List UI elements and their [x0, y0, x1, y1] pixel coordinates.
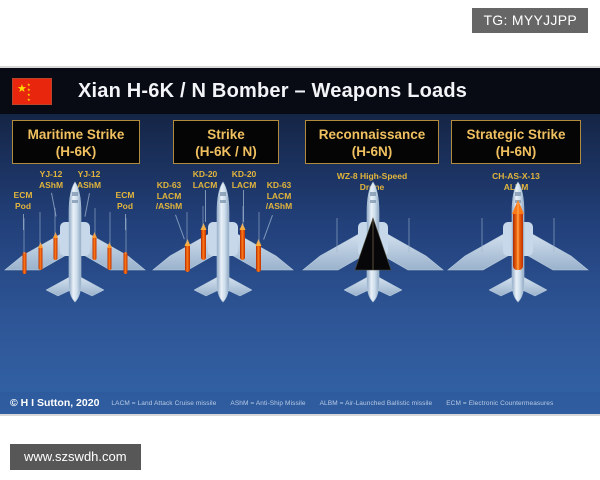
infographic-header: ★ ★★★★ Xian H-6K / N Bomber – Weapons Lo…: [0, 68, 600, 114]
panel-variant-text: (H-6K / N): [174, 143, 278, 160]
aircraft-reconnaissance: [298, 178, 448, 303]
telegram-watermark: TG: MYYJJPP: [472, 8, 588, 33]
footer-legend-bar: © H I Sutton, 2020 LACM = Land Attack Cr…: [0, 392, 600, 414]
aircraft-strike: [148, 178, 298, 303]
panel-title-text: Strike: [207, 127, 245, 142]
panel-variant-text: (H-6N): [452, 143, 580, 160]
infographic-card: ★ ★★★★ Xian H-6K / N Bomber – Weapons Lo…: [0, 66, 600, 416]
aircraft-maritime-strike: [0, 178, 150, 303]
legend-strip: LACM = Land Attack Cruise missile AShM =…: [111, 400, 553, 407]
panel-title-strategic-strike: Strategic Strike (H-6N): [451, 120, 581, 164]
china-flag-icon: ★ ★★★★: [12, 78, 52, 105]
panel-title-strike: Strike (H-6K / N): [173, 120, 279, 164]
panel-title-text: Maritime Strike: [28, 127, 125, 142]
panel-title-text: Reconnaissance: [319, 127, 426, 142]
credit-text: © H I Sutton, 2020: [10, 397, 99, 409]
panel-variant-text: (H-6N): [306, 143, 438, 160]
page-title: Xian H-6K / N Bomber – Weapons Loads: [78, 80, 467, 103]
flag-small-stars: ★★★★: [27, 82, 31, 102]
panel-title-maritime-strike: Maritime Strike (H-6K): [12, 120, 140, 164]
panel-title-text: Strategic Strike: [466, 127, 565, 142]
site-watermark: www.szswdh.com: [10, 444, 141, 470]
aircraft-strategic-strike: [443, 178, 593, 303]
legend-item-albm: ALBM = Air-Launched Ballistic missile: [320, 400, 433, 407]
ordnance-albm: [512, 200, 524, 270]
panel-variant-text: (H-6K): [13, 143, 139, 160]
panel-title-reconnaissance: Reconnaissance (H-6N): [305, 120, 439, 164]
flag-big-star: ★: [17, 84, 27, 95]
legend-item-ecm: ECM = Electronic Countermeasures: [446, 400, 553, 407]
legend-item-ashm: AShM = Anti-Ship Missile: [230, 400, 305, 407]
legend-item-lacm: LACM = Land Attack Cruise missile: [111, 400, 216, 407]
